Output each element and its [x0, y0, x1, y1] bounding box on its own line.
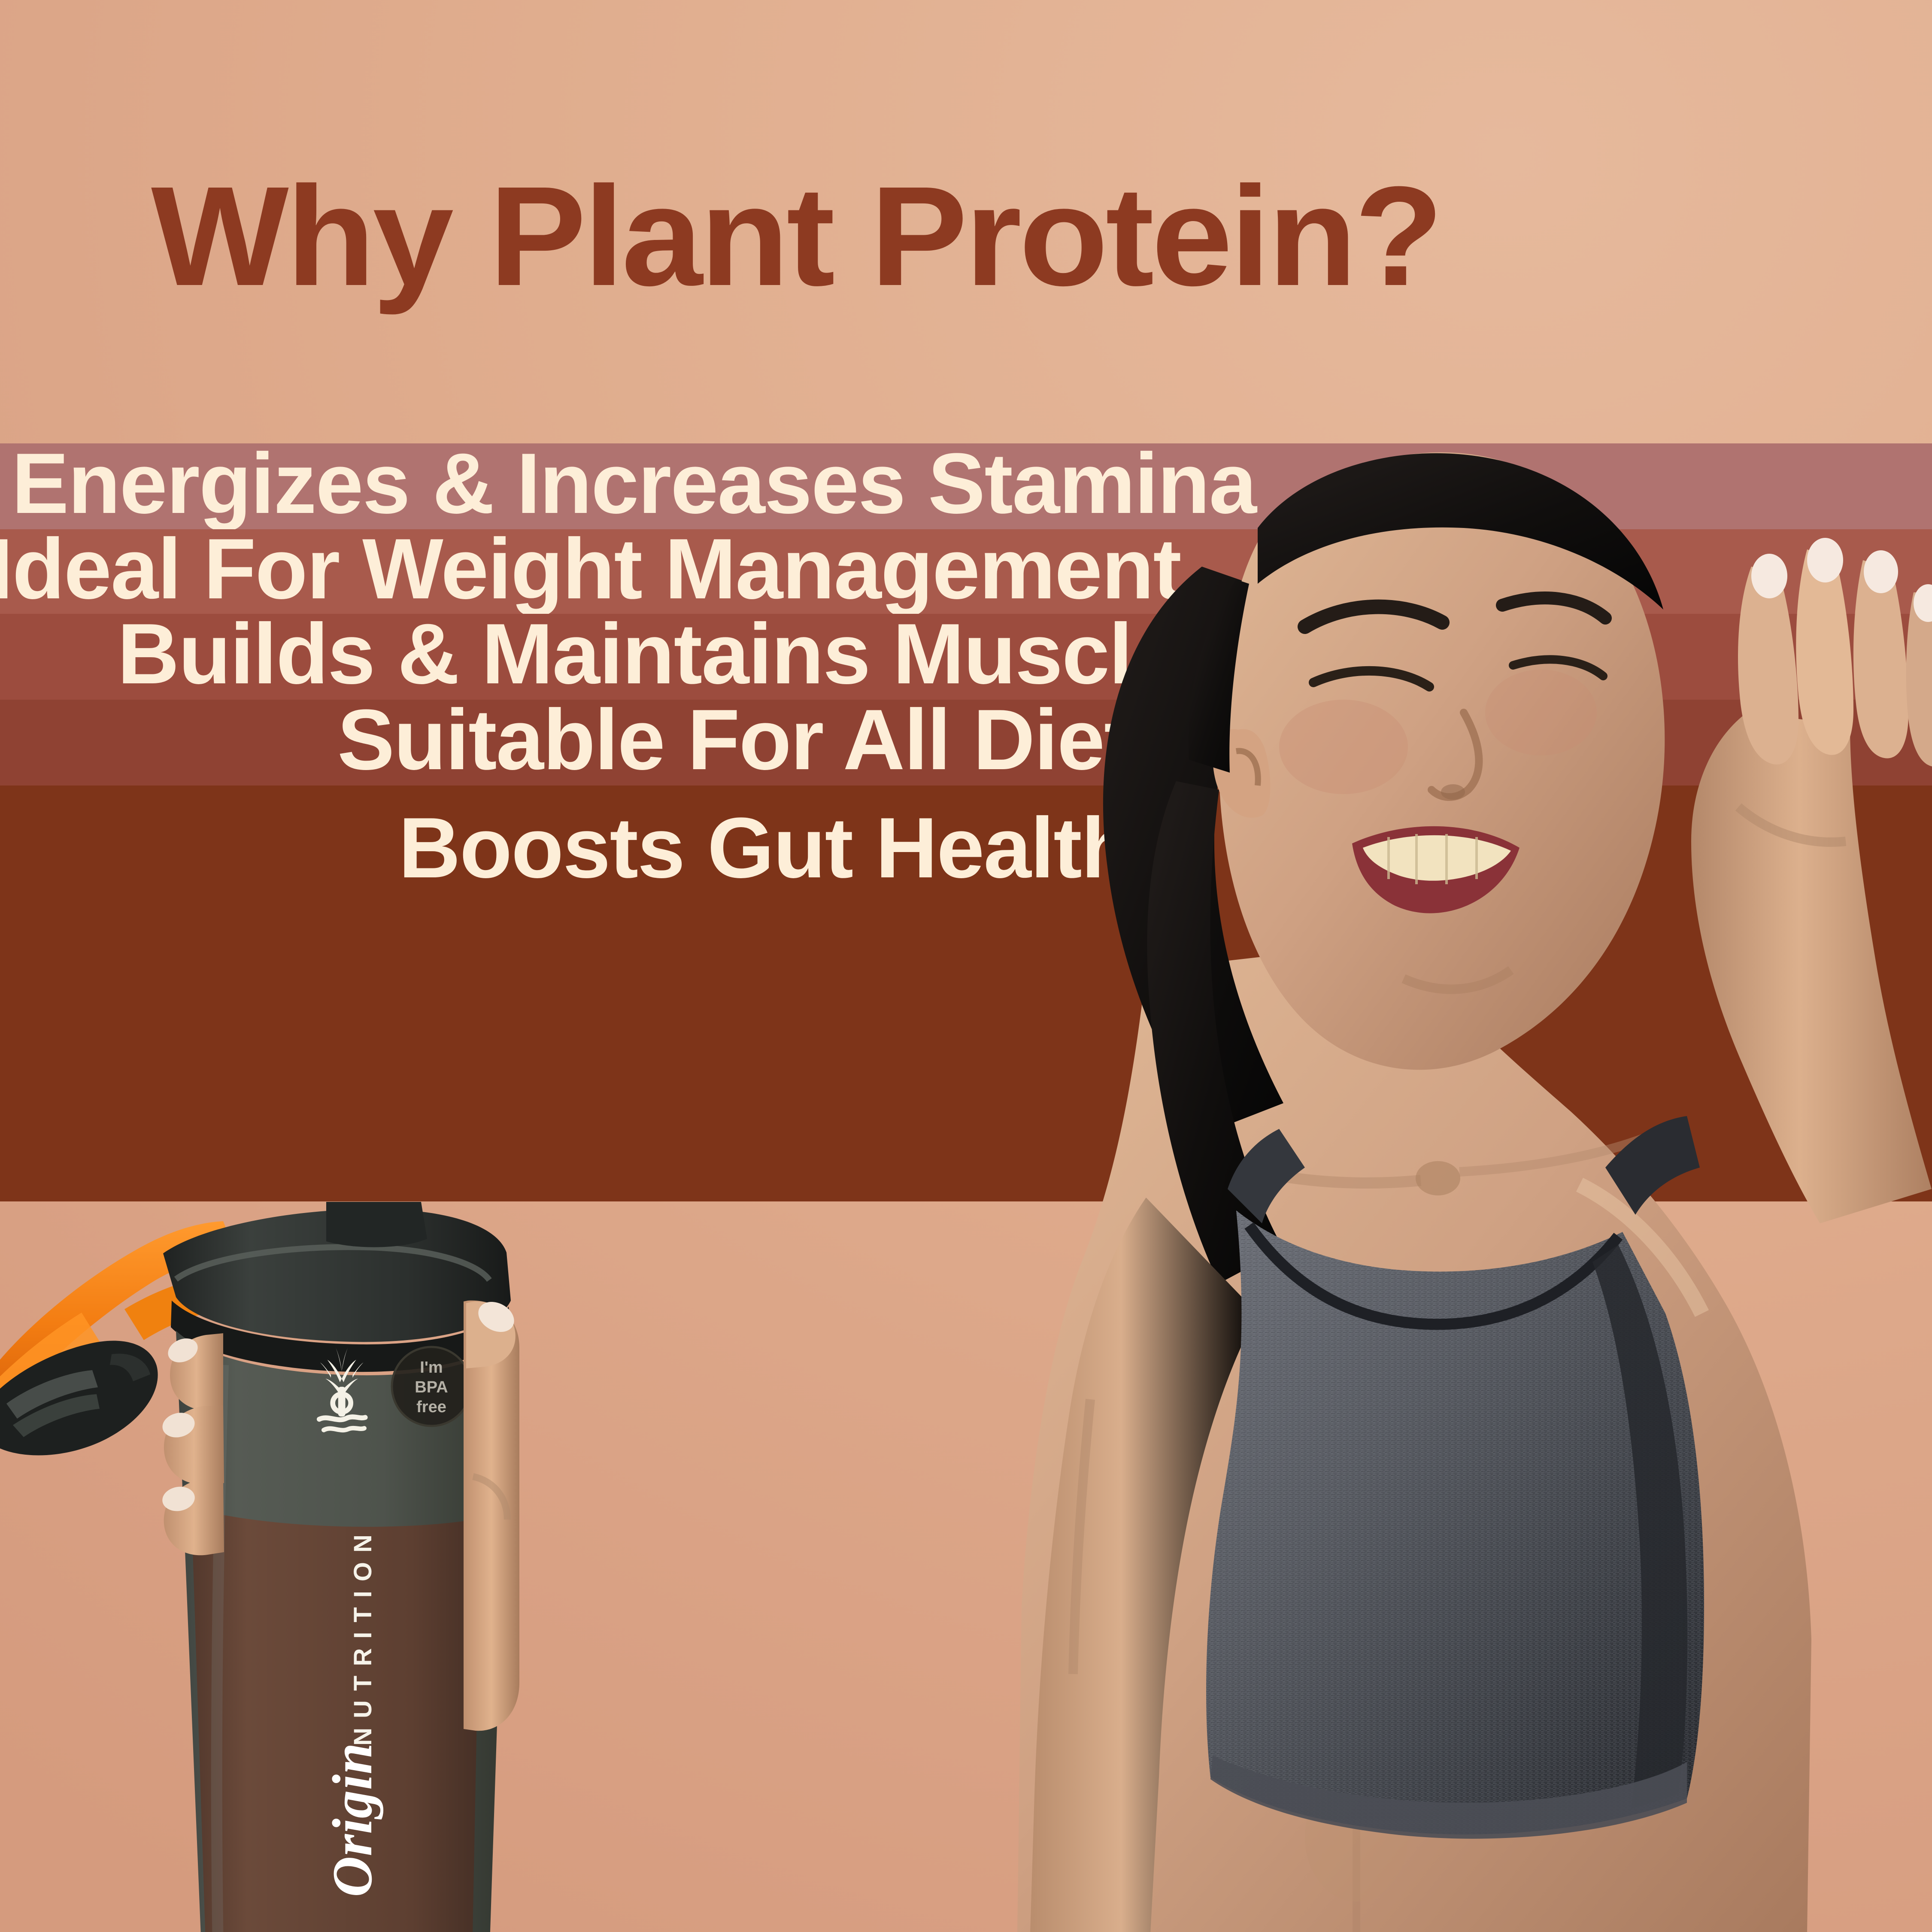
poster-canvas: Why Plant Protein? Energizes & Increases…	[0, 0, 1932, 1932]
bpa-badge-line-2: BPA	[415, 1378, 448, 1396]
gripping-hand-right	[464, 1296, 519, 1731]
bpa-free-badge: I'm BPA free	[392, 1347, 471, 1426]
brand-script: Origin	[321, 1743, 384, 1897]
bpa-badge-line-3: free	[416, 1398, 446, 1416]
model-raised-arm	[1691, 538, 1932, 1223]
shaker-bottle: I'm BPA free NUTRITION Origin	[0, 1202, 519, 1932]
gripping-hand-left	[160, 1333, 224, 1555]
model-photo	[850, 326, 1932, 1932]
page-title: Why Plant Protein?	[151, 168, 1477, 304]
brand-caps: NUTRITION	[349, 1525, 377, 1746]
bpa-badge-line-1: I'm	[420, 1359, 443, 1377]
